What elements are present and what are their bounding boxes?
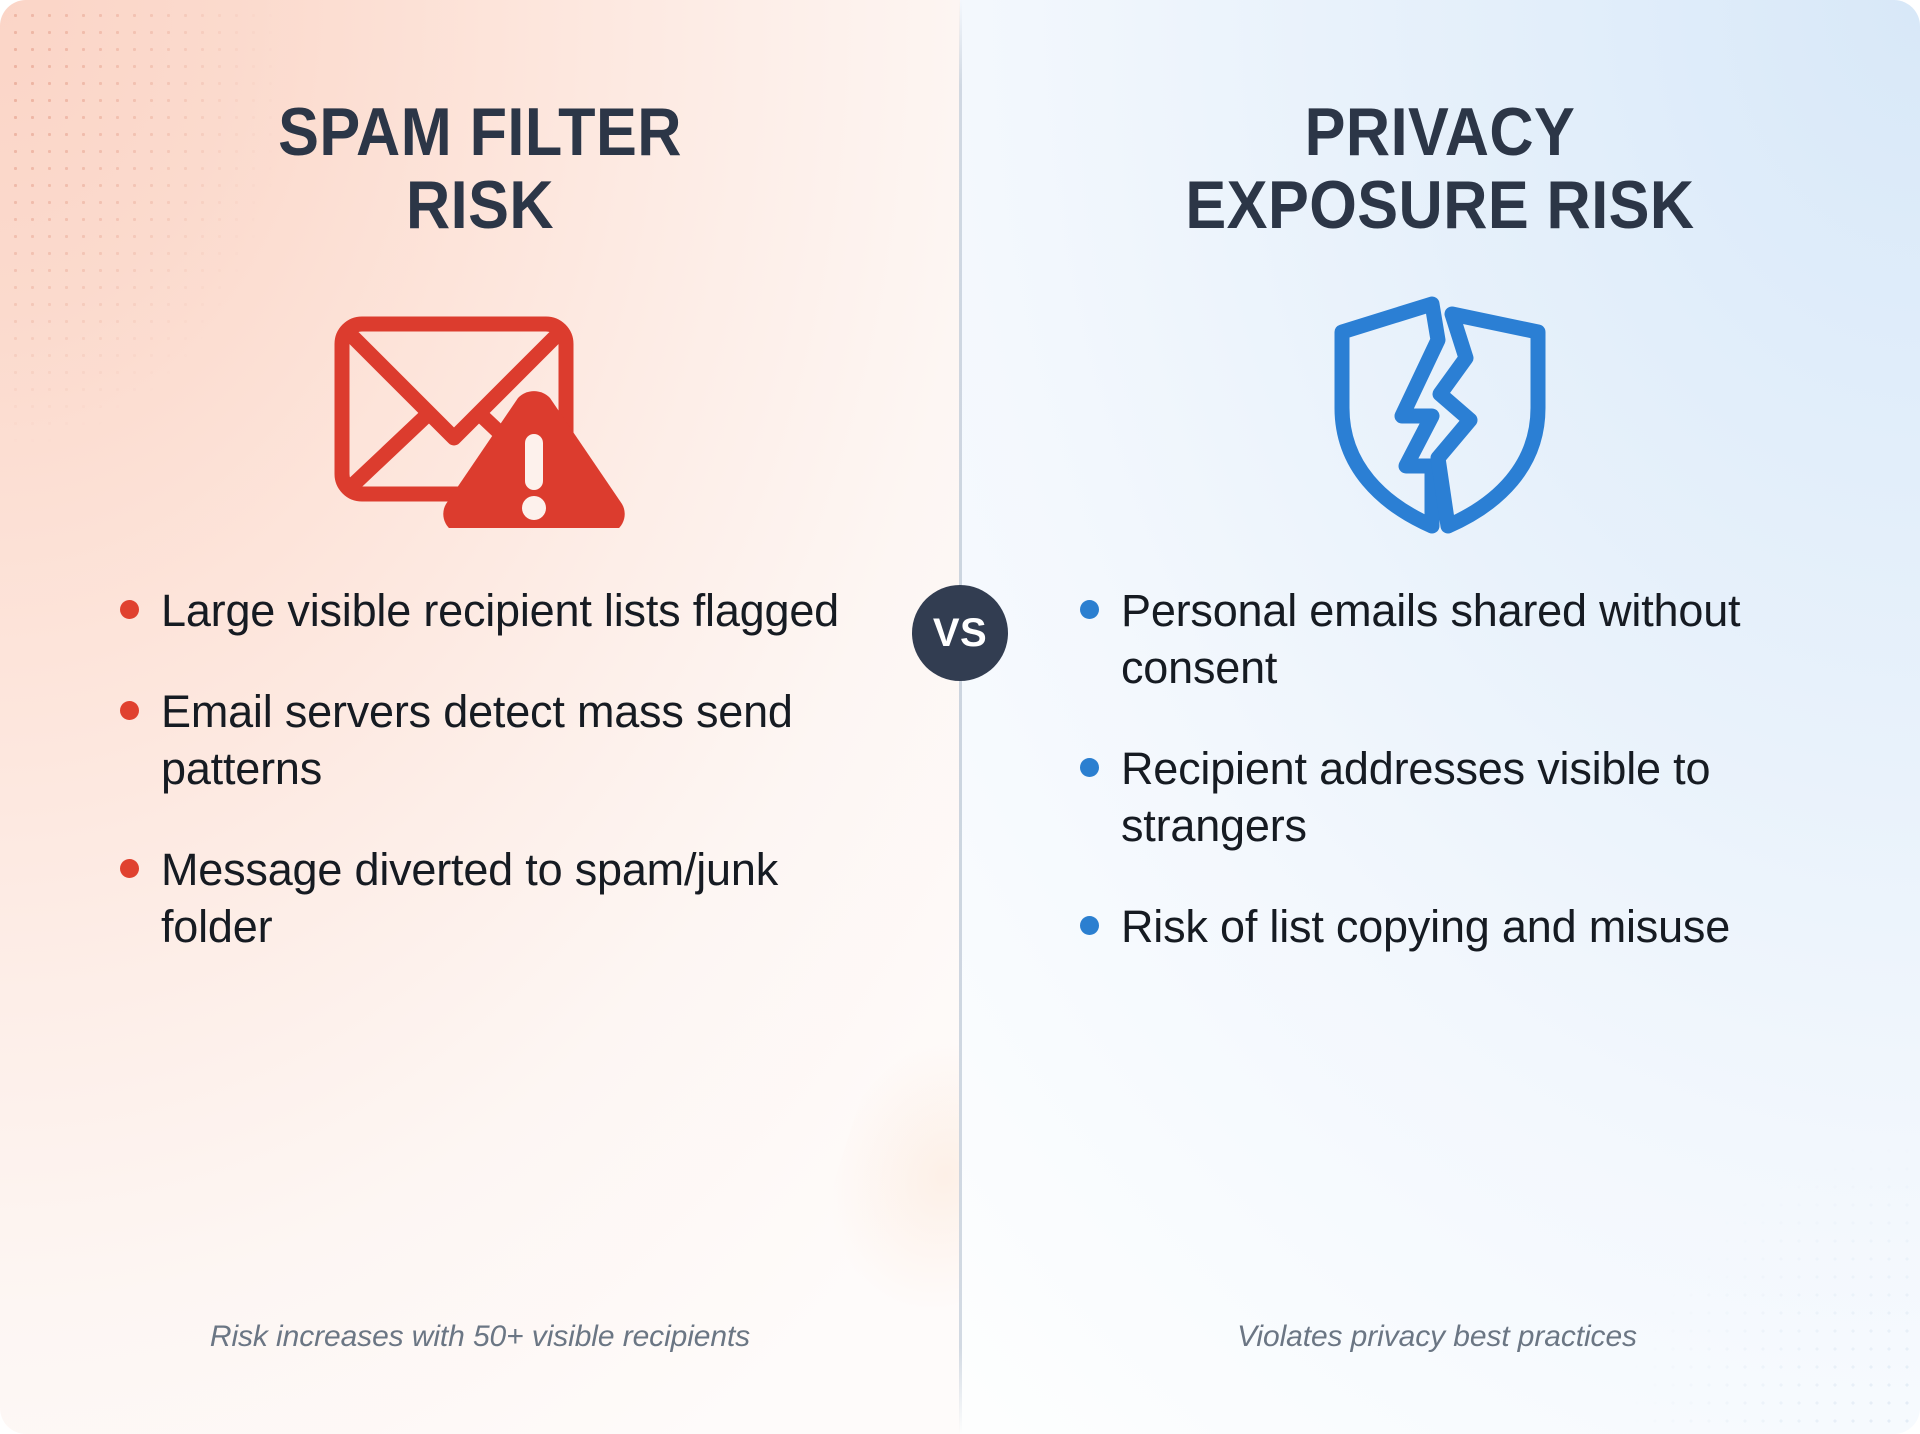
bullet-text: Recipient addresses visible to strangers [1121,740,1800,854]
bullet-dot-icon [1080,758,1099,777]
right-icon-wrap [1080,288,1800,538]
right-title-line-1: PRIVACY [1305,94,1576,170]
cracked-shield-icon [1320,288,1560,538]
vs-badge: VS [912,585,1008,681]
bullet-text: Large visible recipient lists flagged [161,582,839,639]
bullet-text: Personal emails shared without consent [1121,582,1800,696]
shield-right-half [1438,314,1538,526]
left-footnote: Risk increases with 50+ visible recipien… [120,1320,840,1362]
warning-exclamation-bar [525,434,543,490]
bullet-dot-icon [1080,600,1099,619]
list-item: Email servers detect mass send patterns [120,683,840,797]
bullet-dot-icon [120,859,139,878]
warning-exclamation-dot [522,496,546,520]
right-title-line-2: EXPOSURE RISK [1185,167,1694,243]
list-item: Message diverted to spam/junk folder [120,841,840,955]
left-title-line-1: SPAM FILTER [278,94,682,170]
bullet-text: Risk of list copying and misuse [1121,898,1730,955]
list-item: Large visible recipient lists flagged [120,582,840,639]
bullet-text: Email servers detect mass send patterns [161,683,840,797]
list-item: Risk of list copying and misuse [1080,898,1800,955]
right-column: PRIVACY EXPOSURE RISK Personal emails sh… [960,0,1920,1434]
vs-badge-label: VS [933,611,987,656]
bullet-text: Message diverted to spam/junk folder [161,841,840,955]
list-item: Personal emails shared without consent [1080,582,1800,696]
list-item: Recipient addresses visible to strangers [1080,740,1800,854]
bullet-dot-icon [1080,916,1099,935]
left-title-line-2: RISK [406,167,554,243]
left-panel-title: SPAM FILTER RISK [156,96,804,242]
right-bullet-list: Personal emails shared without consent R… [1080,582,1800,956]
right-panel-title: PRIVACY EXPOSURE RISK [1116,96,1764,242]
comparison-infographic: SPAM FILTER RISK Large visible reci [0,0,1920,1434]
right-footnote: Violates privacy best practices [1077,1320,1803,1362]
left-bullet-list: Large visible recipient lists flagged Em… [120,582,840,956]
envelope-fold-left [354,416,426,484]
shield-left-half [1342,304,1438,526]
bullet-dot-icon [120,600,139,619]
left-icon-wrap [120,288,840,538]
bullet-dot-icon [120,701,139,720]
envelope-warning-icon [330,298,630,528]
left-column: SPAM FILTER RISK Large visible reci [0,0,960,1434]
